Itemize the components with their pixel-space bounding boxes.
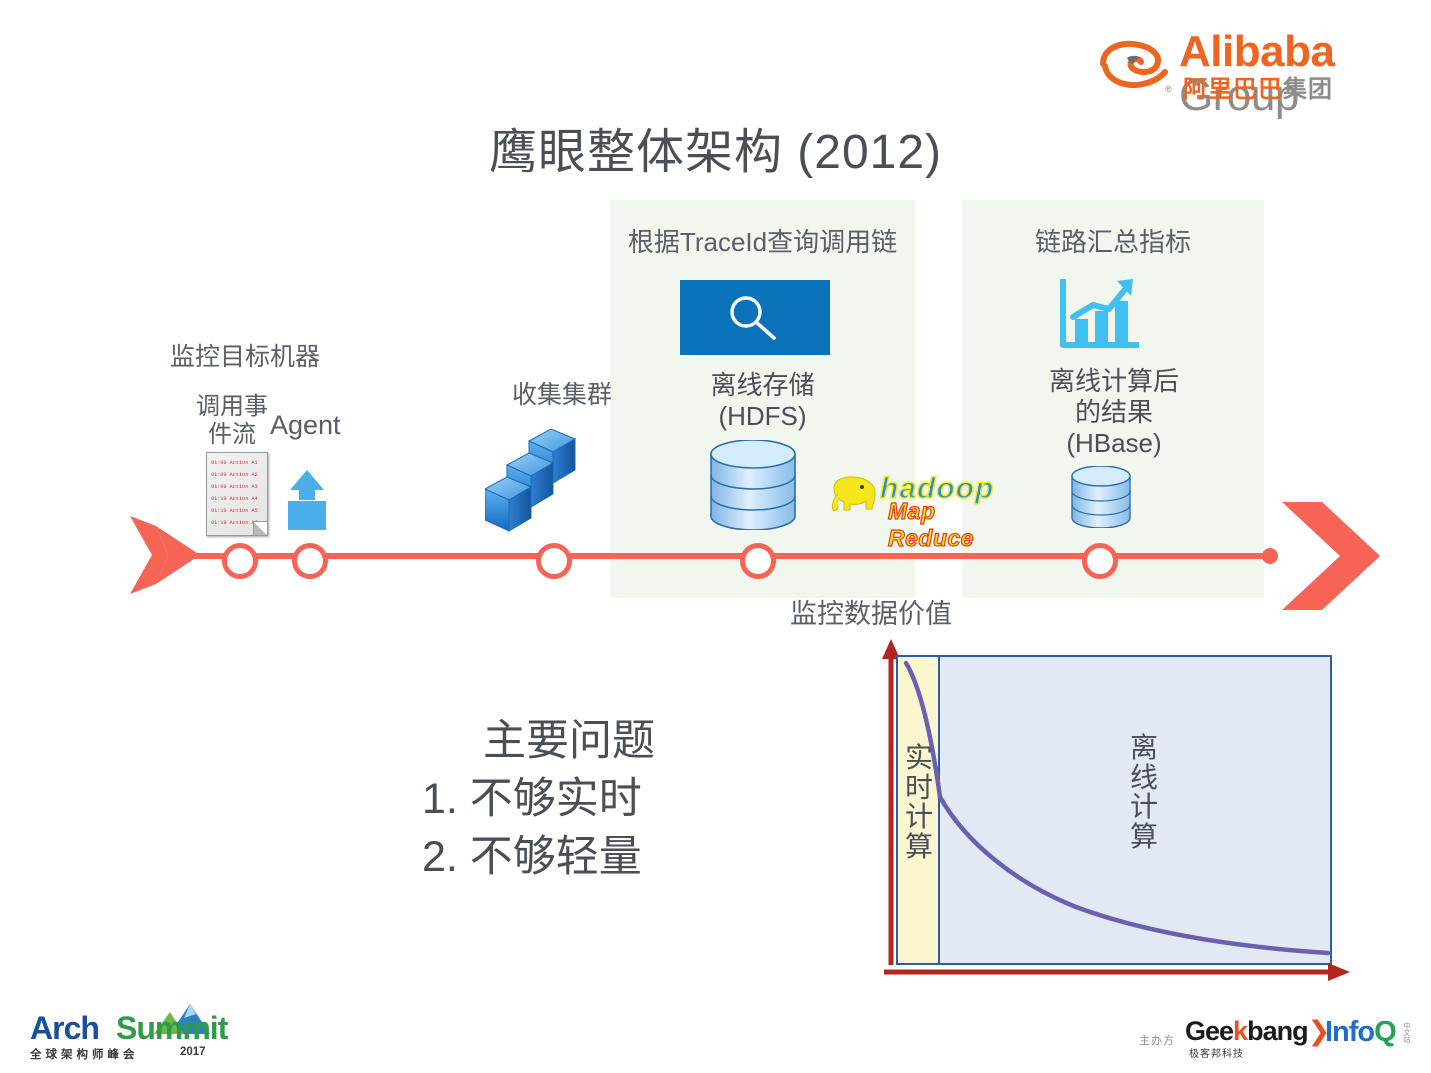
main-issues-block: 主要问题 1. 不够实时 2. 不够轻量	[404, 712, 734, 886]
log-line: 01:19 Action A5	[211, 508, 258, 514]
caption-hbase: 离线计算后 的结果 (HBase)	[980, 366, 1248, 460]
elephant-icon	[828, 474, 882, 514]
mapreduce-wordmark: Map Reduce	[888, 498, 1028, 552]
timeline-node[interactable]	[740, 543, 776, 579]
issue-item: 1. 不够实时	[404, 770, 734, 828]
registered-mark: ®	[1165, 84, 1172, 94]
archsummit-arch-word: Arch	[30, 1010, 99, 1047]
log-line: 01:19 Action A4	[211, 496, 258, 502]
search-tile	[680, 280, 830, 355]
log-line: 01:09 Action A3	[211, 484, 258, 490]
timeline-node[interactable]	[536, 543, 572, 579]
label-event-flow: 调用事件流	[186, 393, 278, 448]
label-agent: Agent	[270, 410, 341, 441]
issues-heading: 主要问题	[404, 712, 734, 770]
chart-x-axis	[880, 961, 1350, 983]
database-hdfs-icon	[705, 440, 801, 530]
slide-canvas: Alibaba Group ® 阿里巴巴集团 鹰眼整体架构 (2012) 根据T…	[0, 0, 1431, 1073]
alibaba-swirl-icon	[1091, 38, 1175, 90]
geekbang-subtitle: 极客邦科技	[1189, 1045, 1244, 1060]
timeline-node[interactable]	[292, 543, 328, 579]
sponsors-block: 主办方 Geekbang❯ 极客邦科技 InfoQ 中文站	[1139, 1012, 1415, 1062]
alibaba-group-logo: Alibaba Group ® 阿里巴巴集团	[1087, 22, 1417, 102]
hadoop-mapreduce-logo: hadoop Map Reduce	[828, 470, 1028, 532]
label-link-metric: 链路汇总指标	[962, 222, 1264, 259]
database-hbase-icon	[1068, 466, 1134, 528]
label-monitor-target: 监控目标机器	[170, 337, 400, 373]
archsummit-summit-word: Summit	[116, 1010, 227, 1047]
chart-decay-curve	[896, 655, 1332, 965]
issue-item: 2. 不够轻量	[404, 828, 734, 886]
log-line: 01:19 Action A6	[211, 520, 258, 526]
timeline-node[interactable]	[222, 543, 258, 579]
bar-chart-growth-icon	[1055, 275, 1145, 355]
upload-arrow-icon	[284, 470, 330, 530]
log-line: 01:09 Action A1	[211, 460, 258, 466]
label-collect-cluster: 收集集群	[512, 375, 712, 411]
infoq-subtitle: 中文站	[1401, 1022, 1411, 1043]
page-fold-corner	[253, 521, 267, 535]
geekbang-logo: Geekbang❯	[1185, 1016, 1329, 1047]
infoq-logo: InfoQ	[1325, 1016, 1396, 1049]
collect-cluster-cubes-icon	[485, 425, 605, 540]
search-icon	[722, 292, 788, 344]
timeline-node[interactable]	[1082, 543, 1118, 579]
log-line: 01:09 Action A2	[211, 472, 258, 478]
page-title: 鹰眼整体架构 (2012)	[0, 112, 1431, 182]
timeline-arrow-right-icon	[1276, 496, 1396, 616]
host-label: 主办方	[1139, 1032, 1175, 1048]
data-value-chart: 实时计算 离线计算	[896, 655, 1332, 965]
label-trace-query: 根据TraceId查询调用链	[610, 222, 915, 259]
archsummit-logo: Arch Summit 全球架构师峰会 2017	[28, 1004, 218, 1060]
archsummit-subtitle: 全球架构师峰会	[30, 1046, 139, 1062]
brand-name-en: Alibaba Group	[1179, 30, 1417, 118]
brand-name-cn: 阿里巴巴集团	[1183, 78, 1333, 102]
label-monitor-data-value: 监控数据价值	[790, 592, 1040, 631]
archsummit-year: 2017	[180, 1046, 206, 1058]
log-document-icon: 01:09 Action A1 01:09 Action A2 01:09 Ac…	[206, 452, 268, 536]
